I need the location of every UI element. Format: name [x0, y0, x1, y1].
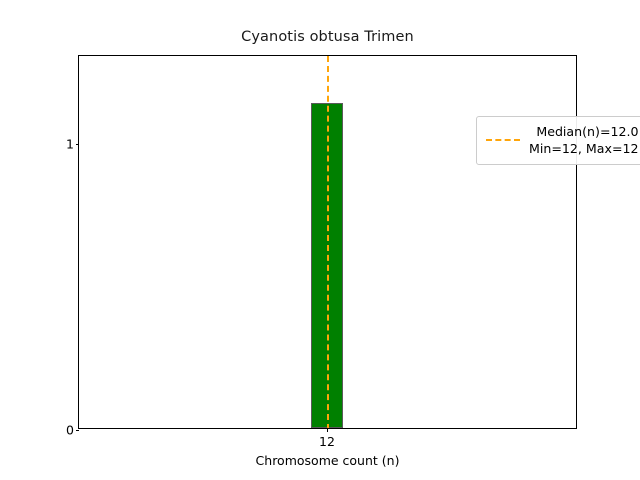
ytick-mark-0: [76, 430, 80, 431]
chart-title: Cyanotis obtusa Trimen: [78, 29, 577, 45]
ytick-mark-1: [76, 144, 80, 145]
xtick-mark-12: [327, 428, 328, 432]
legend-label-range: Min=12, Max=12: [529, 140, 639, 157]
chart-legend: Median(n)=12.0 Min=12, Max=12: [476, 116, 640, 165]
legend-label-median: Median(n)=12.0: [536, 123, 638, 140]
ytick-label-1: 1: [66, 137, 74, 152]
legend-row-median: Median(n)=12.0 Min=12, Max=12: [486, 123, 639, 157]
ytick-label-0: 0: [66, 423, 74, 438]
xtick-label-12: 12: [319, 434, 335, 449]
plot-area: 0 1 12 Median(n)=12.0 Min=12, Max=12: [78, 55, 577, 429]
median-line: [327, 56, 329, 428]
chart-figure: Cyanotis obtusa Trimen 0 1 12: [0, 0, 640, 480]
x-axis-label: Chromosome count (n): [78, 453, 577, 468]
plot-inner: [79, 56, 576, 428]
dashed-line-icon: [486, 139, 520, 141]
legend-text-block: Median(n)=12.0 Min=12, Max=12: [529, 123, 639, 157]
